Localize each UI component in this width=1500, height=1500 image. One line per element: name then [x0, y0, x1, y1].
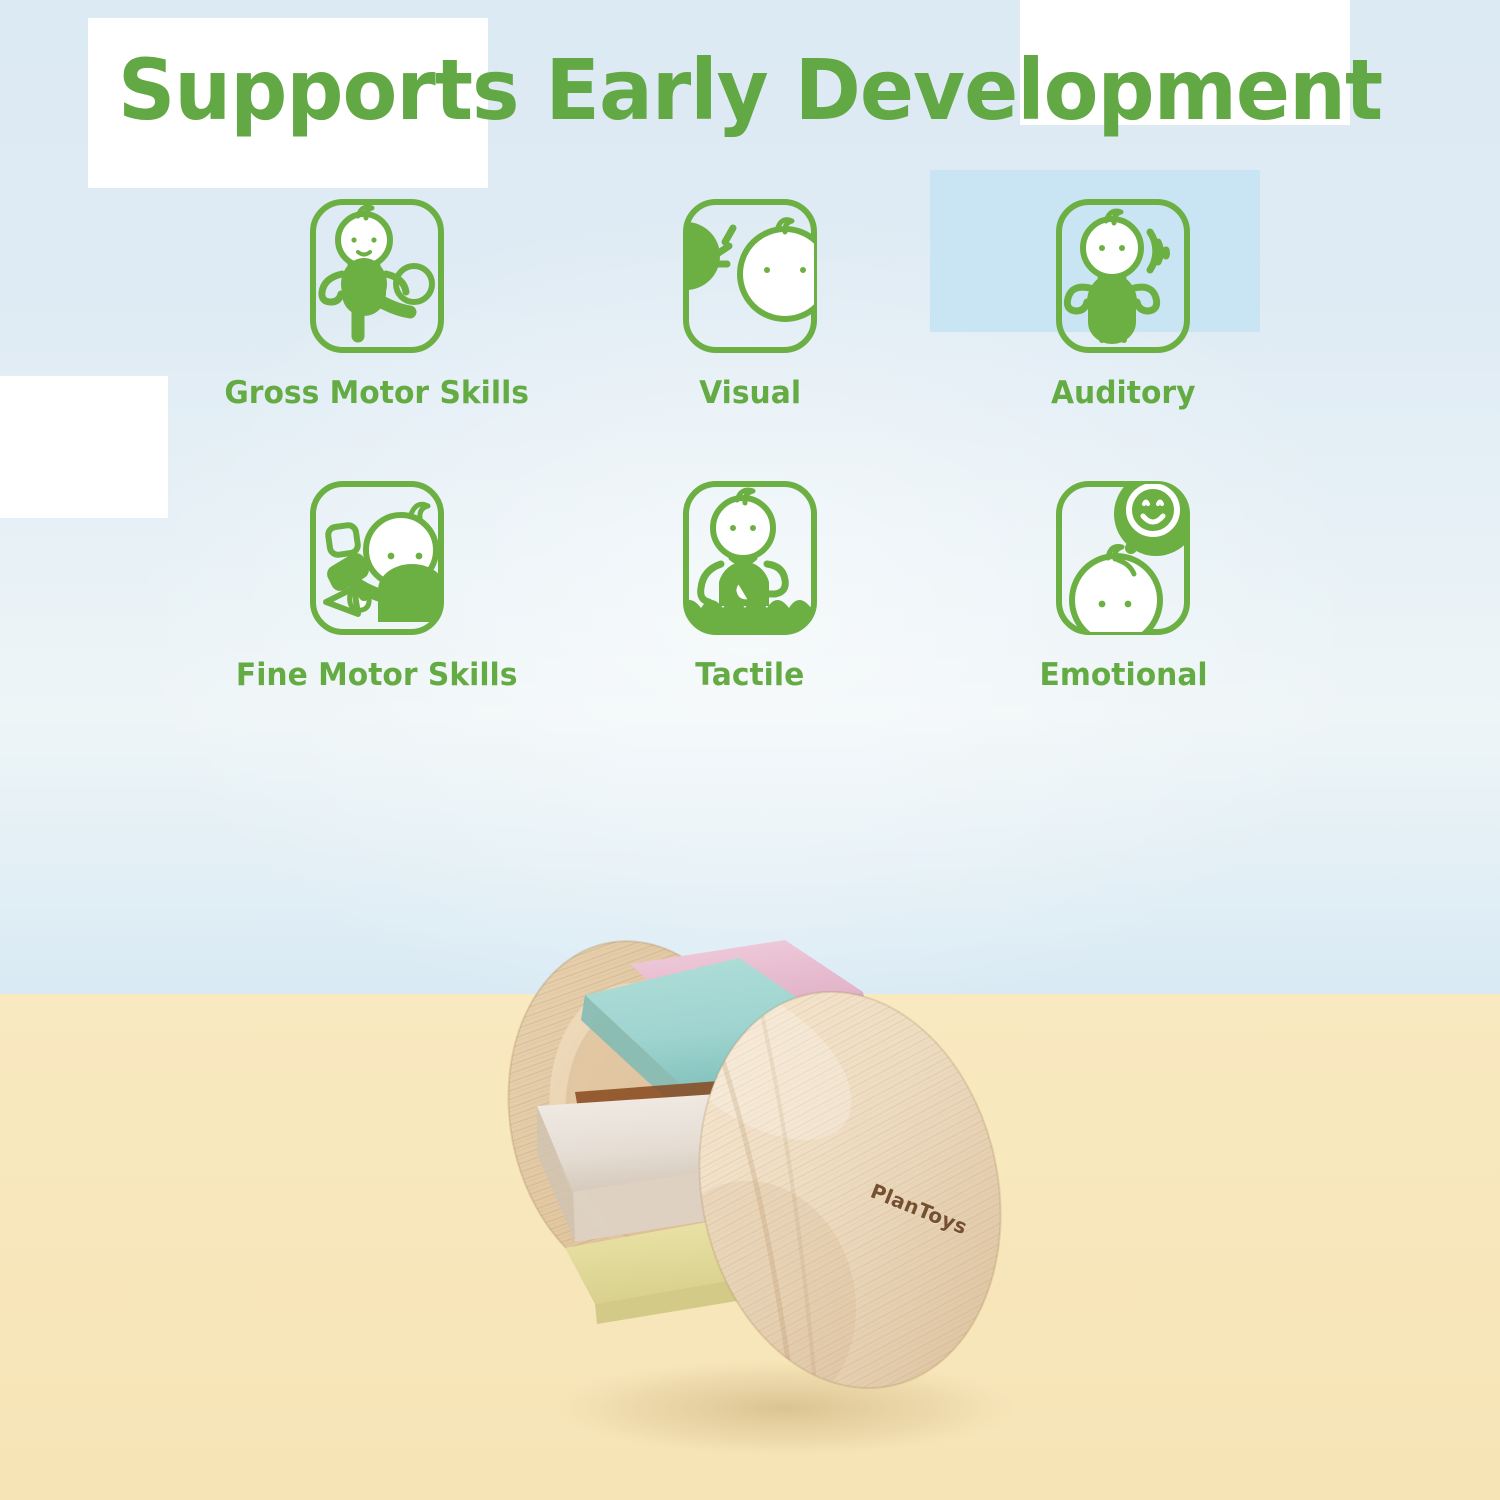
- benefit-label: Fine Motor Skills: [236, 656, 518, 694]
- benefit-label: Visual: [699, 374, 801, 412]
- benefit-emotional: Emotional: [937, 478, 1310, 694]
- product-feature-scene: Supports Early Development: [0, 0, 1500, 1500]
- baby-smiley-thought-icon: [1032, 478, 1214, 638]
- toy-floor-shadow: [555, 1360, 1015, 1456]
- baby-hammer-shapes-icon: [286, 478, 468, 638]
- cloud-decoration-mid-left: [0, 376, 168, 518]
- benefit-label: Tactile: [695, 656, 804, 694]
- benefits-grid: Gross Motor Skills: [190, 196, 1310, 694]
- benefit-fine-motor-skills: Fine Motor Skills: [190, 478, 563, 694]
- benefit-auditory: Auditory: [937, 196, 1310, 412]
- benefit-visual: Visual: [563, 196, 936, 412]
- roller-toy-illustration: [455, 880, 1065, 1480]
- benefit-gross-motor-skills: Gross Motor Skills: [190, 196, 563, 412]
- baby-with-ball-icon: [286, 196, 468, 356]
- page-title: Supports Early Development: [38, 44, 1463, 136]
- baby-sound-waves-icon: [1032, 196, 1214, 356]
- benefit-label: Gross Motor Skills: [224, 374, 529, 412]
- benefit-tactile: Tactile: [563, 478, 936, 694]
- light-rays-face-icon: [659, 196, 841, 356]
- product-photo-roller-toy: [455, 880, 1065, 1480]
- benefit-label: Auditory: [1051, 374, 1195, 412]
- benefit-label: Emotional: [1039, 656, 1207, 694]
- baby-touching-texture-icon: [659, 478, 841, 638]
